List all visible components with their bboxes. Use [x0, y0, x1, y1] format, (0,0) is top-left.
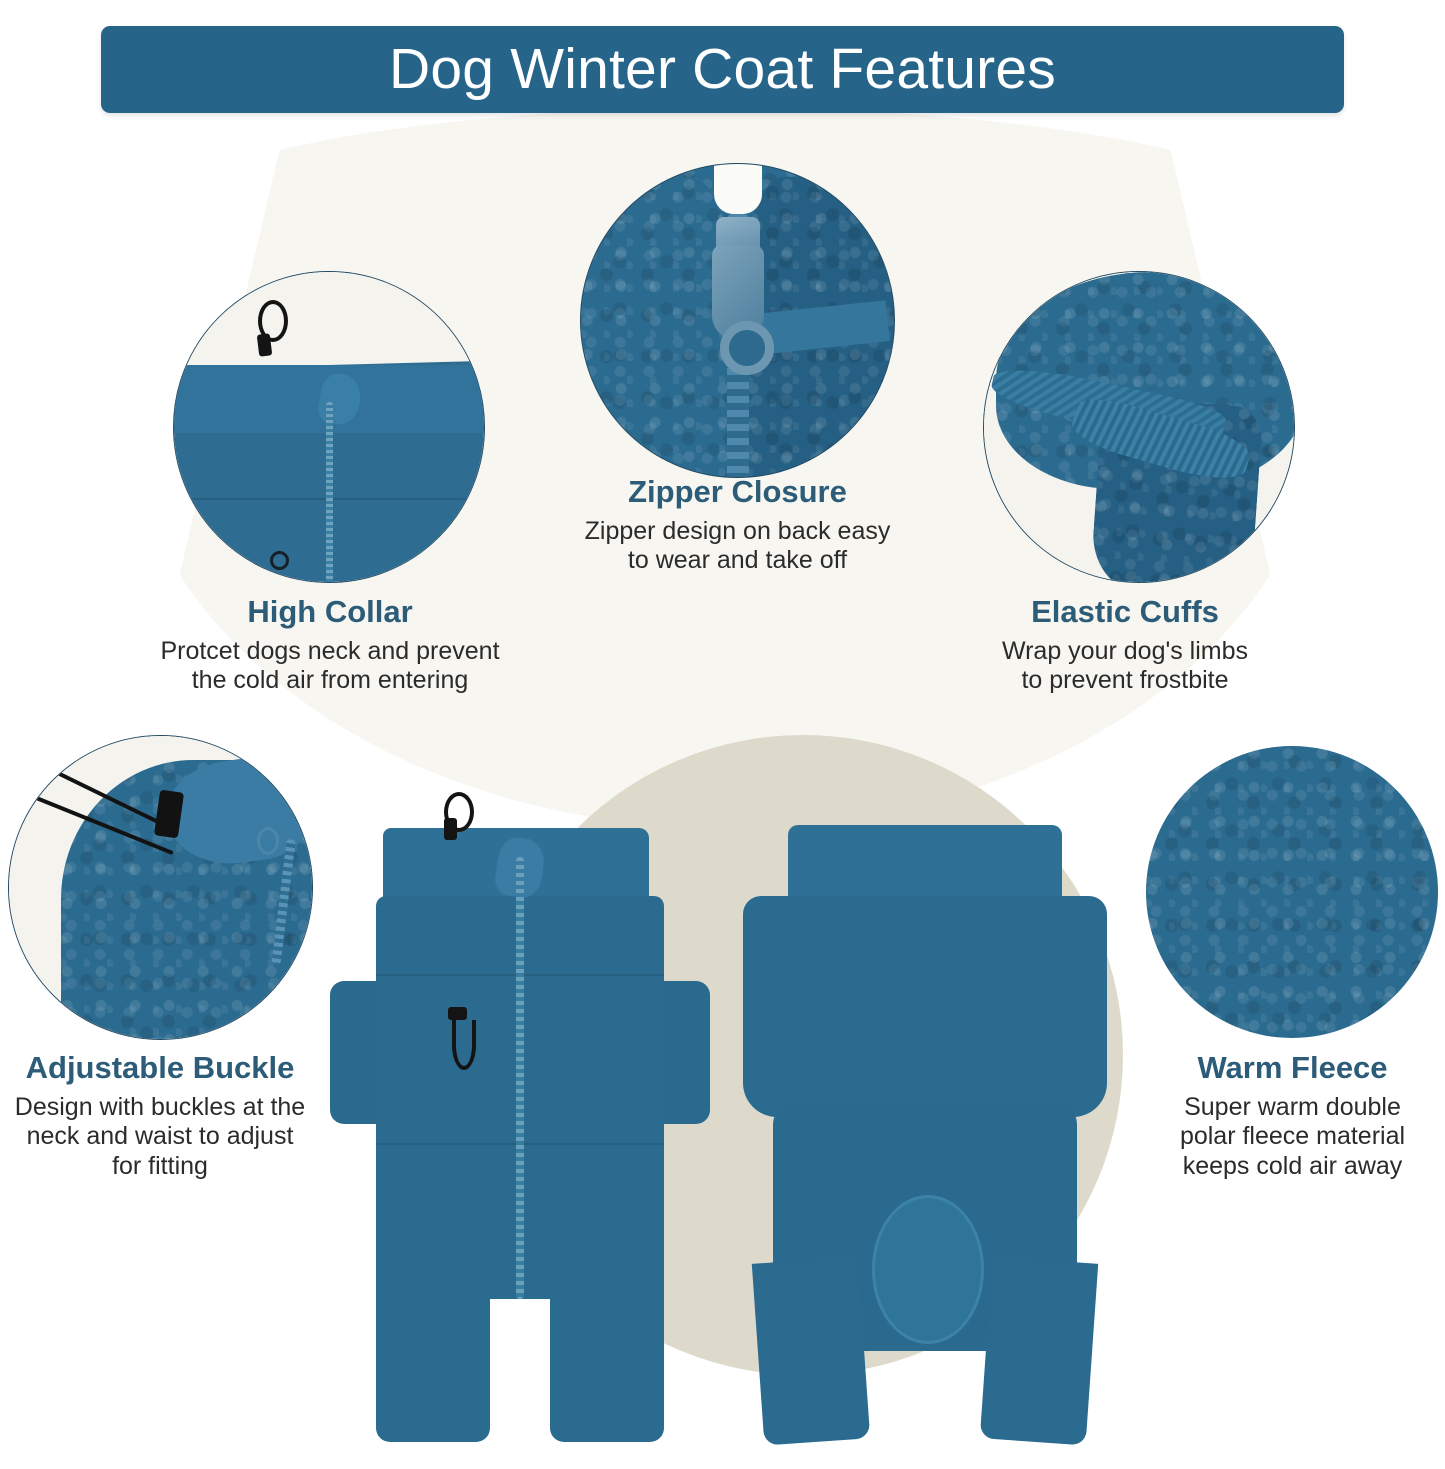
front-chest-cord-icon	[452, 1020, 476, 1070]
zipper-opening-gap	[714, 164, 762, 214]
feature-description-warm-fleece: Super warm double polar fleece material …	[1140, 1093, 1445, 1182]
front-collar-toggle-icon	[444, 818, 457, 840]
feature-warm-fleece: Warm Fleece Super warm double polar flee…	[1140, 1050, 1445, 1181]
page-title-banner: Dog Winter Coat Features	[101, 26, 1344, 113]
feature-heading-zipper-closure: Zipper Closure	[500, 474, 975, 510]
feature-zipper-closure: Zipper Closure Zipper design on back eas…	[500, 474, 975, 576]
back-leg-left	[752, 1257, 871, 1446]
front-chest-toggle-icon	[448, 1007, 467, 1020]
feature-description-elastic-cuffs: Wrap your dog's limbs to prevent frostbi…	[940, 637, 1310, 696]
back-rear-opening	[872, 1195, 984, 1344]
zipper-pull-hole-icon	[720, 321, 774, 375]
feature-description-high-collar: Protcet dogs neck and prevent the cold a…	[110, 637, 550, 696]
feature-heading-warm-fleece: Warm Fleece	[1140, 1050, 1445, 1086]
zipper-closure-photo	[580, 163, 895, 478]
back-leg-left-cuff	[763, 1416, 871, 1445]
adjustable-buckle-photo	[8, 735, 313, 1040]
feature-elastic-cuffs: Elastic Cuffs Wrap your dog's limbs to p…	[940, 594, 1310, 696]
product-back-view	[735, 805, 1115, 1455]
page-title: Dog Winter Coat Features	[389, 41, 1056, 98]
feature-heading-elastic-cuffs: Elastic Cuffs	[940, 594, 1310, 630]
snap-button-icon	[270, 551, 289, 570]
collar-zipper	[326, 402, 333, 582]
back-shoulder-panel	[743, 896, 1108, 1117]
drawstring-toggle-icon	[256, 333, 272, 356]
feature-description-zipper-closure: Zipper design on back easy to wear and t…	[500, 517, 975, 576]
buckle-cord-loop-icon	[257, 827, 279, 855]
front-leg-right	[550, 1260, 664, 1442]
zipper-left-panel	[581, 177, 728, 478]
warm-fleece-photo	[1146, 746, 1438, 1038]
back-leg-right	[980, 1257, 1099, 1446]
feature-high-collar: High Collar Protcet dogs neck and preven…	[110, 594, 550, 696]
feature-description-adjustable-buckle: Design with buckles at the neck and wais…	[0, 1093, 320, 1182]
elastic-cuffs-photo	[983, 271, 1295, 583]
feature-heading-high-collar: High Collar	[110, 594, 550, 630]
high-collar-photo	[173, 271, 485, 583]
front-leg-left	[376, 1260, 490, 1442]
product-front-view	[330, 805, 710, 1455]
feature-heading-adjustable-buckle: Adjustable Buckle	[0, 1050, 320, 1086]
feature-adjustable-buckle: Adjustable Buckle Design with buckles at…	[0, 1050, 320, 1181]
back-leg-right-cuff	[980, 1416, 1088, 1445]
front-zipper	[516, 857, 524, 1299]
